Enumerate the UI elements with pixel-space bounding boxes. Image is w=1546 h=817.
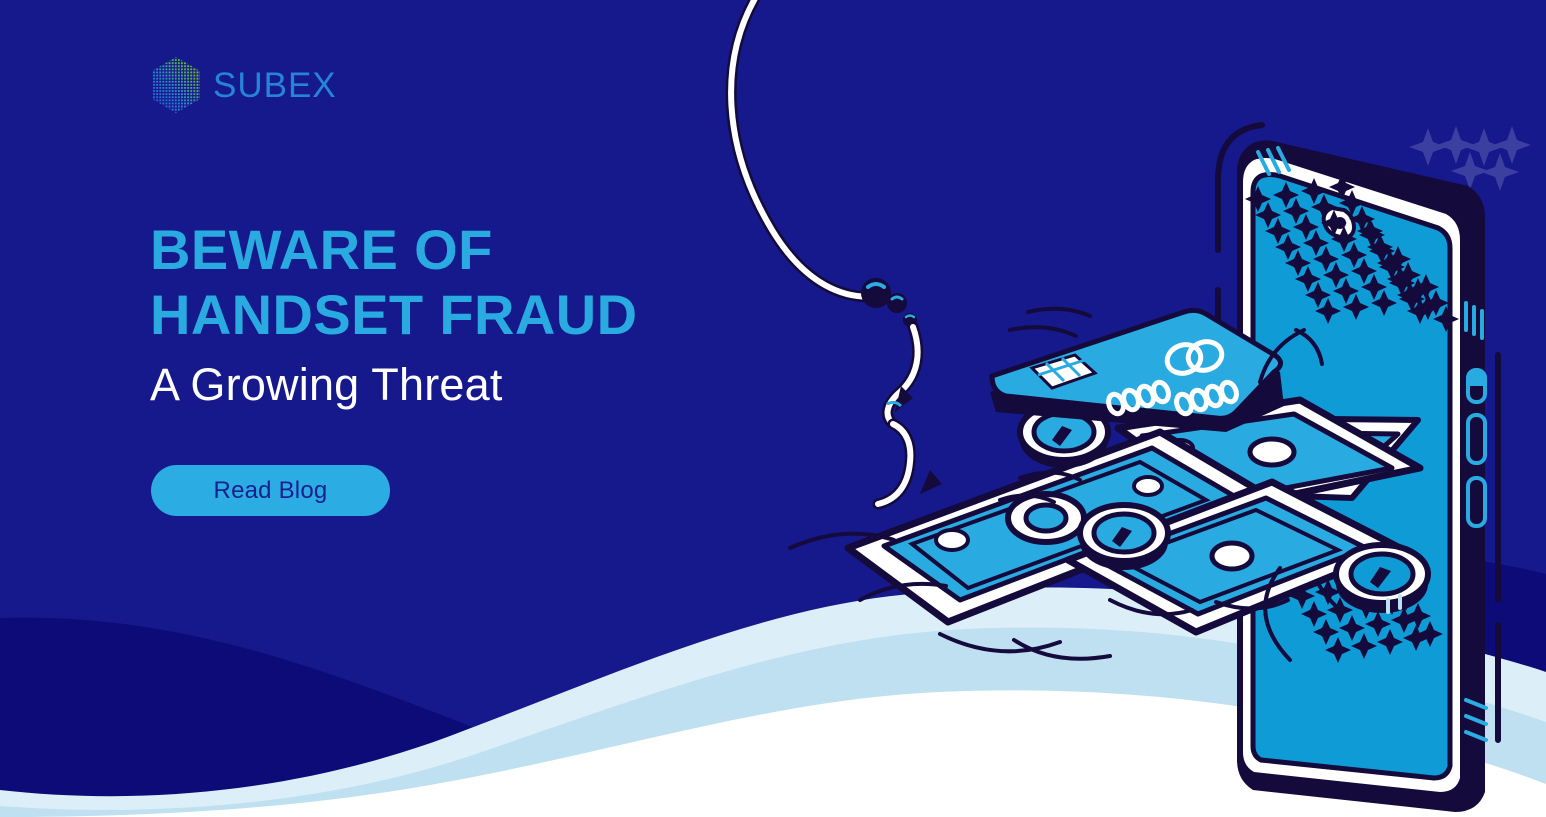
phone-camera-icon — [1324, 208, 1354, 237]
decorative-strokes — [860, 309, 1304, 660]
smartphone-illustration — [1218, 125, 1498, 812]
phone-speaker-lines — [1258, 148, 1289, 174]
screen-dot-pattern-bottom — [1277, 553, 1443, 663]
card-chip-icon — [1032, 355, 1095, 388]
banknote — [1118, 400, 1420, 508]
brand-logo[interactable]: SUBEX — [150, 55, 337, 115]
coin — [1020, 404, 1108, 468]
phone-screen — [1253, 175, 1450, 779]
wave-light-blue — [0, 627, 1546, 817]
phone-screen-outline — [1253, 175, 1450, 779]
read-blog-button[interactable]: Read Blog — [151, 465, 390, 516]
phone-bottom-lines — [1466, 700, 1486, 740]
banknote — [1182, 418, 1418, 498]
card-number — [1106, 380, 1239, 416]
phone-button-highlight — [1468, 370, 1485, 387]
coin — [1336, 545, 1428, 613]
banknote — [1068, 482, 1400, 632]
phone-bezel — [1243, 158, 1460, 792]
screen-dot-pattern-top — [1245, 174, 1459, 332]
banknote — [848, 432, 1268, 622]
wave-dark-navy — [0, 552, 1546, 817]
page-subtitle: A Growing Threat — [150, 358, 790, 412]
credit-card-illustration — [990, 310, 1284, 432]
phone-side-buttons[interactable] — [1468, 370, 1485, 526]
wave-white — [0, 690, 1546, 817]
phone-accent-arc — [1218, 125, 1262, 250]
coins-illustration — [1020, 404, 1428, 613]
wave-pale-cyan — [0, 587, 1546, 817]
sparkles-icon — [1409, 126, 1531, 191]
ripple-lines — [790, 472, 1288, 651]
page-title: BEWARE OF HANDSET FRAUD — [150, 218, 790, 348]
coin — [1080, 505, 1168, 570]
banknotes-illustration — [790, 400, 1420, 651]
promo-banner: SUBEX BEWARE OF HANDSET FRAUD A Growing … — [0, 0, 1546, 817]
phone-body — [1237, 141, 1485, 813]
screen-motion-lines — [1296, 330, 1340, 610]
hero-copy: BEWARE OF HANDSET FRAUD A Growing Threat — [150, 218, 790, 412]
card-logo-icon — [1164, 337, 1226, 377]
hexagon-dot-cube-icon — [150, 56, 202, 114]
brand-name: SUBEX — [213, 68, 337, 103]
phone-edge-lines — [1466, 303, 1482, 338]
